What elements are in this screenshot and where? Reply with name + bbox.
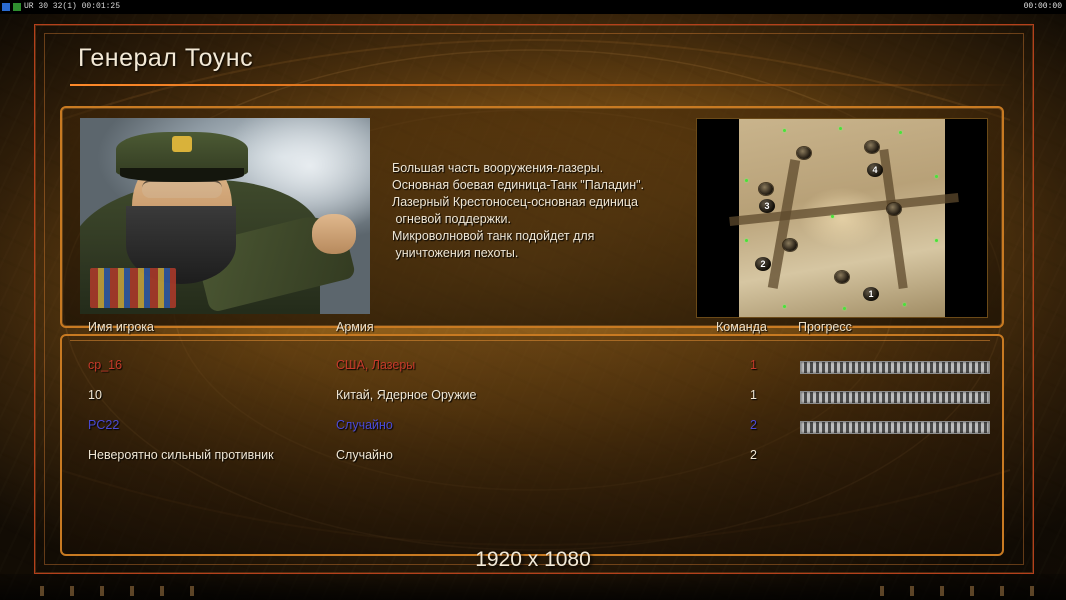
column-header-name: Имя игрока xyxy=(88,320,154,334)
player-name: cp_16 xyxy=(88,358,122,372)
description-line-2: Основная боевая единица-Танк "Паладин". xyxy=(392,177,722,194)
general-info-panel: Большая часть вооружения-лазеры. Основна… xyxy=(60,106,1004,328)
status-square-green-icon xyxy=(13,3,21,11)
table-row[interactable]: cp_16 США, Лазеры 1 xyxy=(68,358,998,380)
player-army: США, Лазеры xyxy=(336,358,415,372)
player-name: Невероятно сильный противник xyxy=(88,448,274,462)
status-square-blue-icon xyxy=(2,3,10,11)
player-list-panel: Имя игрока Армия Команда Прогресс cp_16 … xyxy=(60,334,1004,556)
map-start-position-2: 2 xyxy=(755,257,771,271)
player-name: PC22 xyxy=(88,418,119,432)
general-portrait xyxy=(80,118,370,314)
map-preview[interactable]: 3 4 2 1 xyxy=(696,118,988,318)
header-divider xyxy=(70,340,990,341)
player-progress-bar xyxy=(800,361,990,374)
map-start-position-1: 1 xyxy=(863,287,879,301)
general-description: Большая часть вооружения-лазеры. Основна… xyxy=(392,160,722,262)
page-title: Генерал Тоунс xyxy=(78,44,253,73)
column-header-army: Армия xyxy=(336,320,374,334)
description-line-5: Микроволновой танк подойдет для xyxy=(392,228,722,245)
table-row[interactable]: 10 Китай, Ядерное Оружие 1 xyxy=(68,388,998,410)
title-bar: Генерал Тоунс xyxy=(56,42,1024,86)
top-status-bar: UR 30 32(1) 00:01:25 00:00:00 xyxy=(0,0,1066,14)
topbar-clock: 00:00:00 xyxy=(1024,0,1062,14)
map-start-position-4: 4 xyxy=(867,163,883,177)
table-row[interactable]: PC22 Случайно 2 xyxy=(68,418,998,440)
topbar-left: UR 30 32(1) 00:01:25 xyxy=(2,0,120,14)
player-progress-bar xyxy=(800,421,990,434)
player-list-header: Имя игрока Армия Команда Прогресс xyxy=(68,320,998,340)
player-army: Китай, Ядерное Оружие xyxy=(336,388,476,402)
bottom-strip xyxy=(0,574,1066,600)
table-row[interactable]: Невероятно сильный противник Случайно 2 xyxy=(68,448,998,470)
player-progress-bar xyxy=(800,391,990,404)
player-team: 2 xyxy=(750,448,757,462)
description-line-6: уничтожения пехоты. xyxy=(392,245,722,262)
player-team: 1 xyxy=(750,388,757,402)
column-header-progress: Прогресс xyxy=(798,320,852,334)
topbar-left-text: UR 30 32(1) 00:01:25 xyxy=(24,0,120,14)
resolution-label: 1920 x 1080 xyxy=(0,548,1066,572)
player-army: Случайно xyxy=(336,418,393,432)
game-screen: UR 30 32(1) 00:01:25 00:00:00 Генерал То… xyxy=(0,0,1066,600)
map-start-position-3: 3 xyxy=(759,199,775,213)
player-team: 2 xyxy=(750,418,757,432)
title-divider xyxy=(70,84,1014,86)
player-name: 10 xyxy=(88,388,102,402)
map-image: 3 4 2 1 xyxy=(739,119,945,317)
description-line-1: Большая часть вооружения-лазеры. xyxy=(392,160,722,177)
player-team: 1 xyxy=(750,358,757,372)
column-header-team: Команда xyxy=(716,320,767,334)
description-line-3: Лазерный Крестоносец-основная единица xyxy=(392,194,722,211)
description-line-4: огневой поддержки. xyxy=(392,211,722,228)
player-army: Случайно xyxy=(336,448,393,462)
